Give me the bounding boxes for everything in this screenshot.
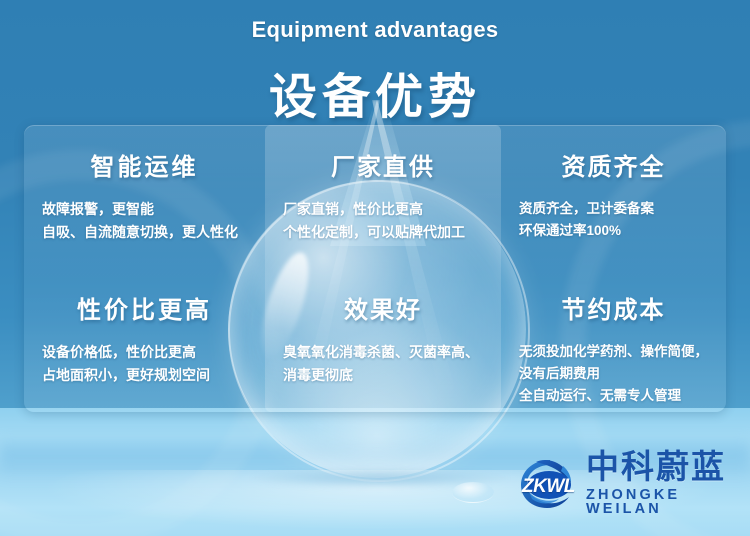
advantage-card-full-qualifications[interactable]: 资质齐全 资质齐全，卫计委备案 环保通过率100% [501, 125, 726, 268]
advantage-line: 资质齐全，卫计委备案 [519, 198, 708, 220]
advantage-description: 资质齐全，卫计委备案 环保通过率100% [519, 198, 708, 242]
advantage-description: 设备价格低，性价比更高 占地面积小，更好规划空间 [42, 341, 247, 386]
advantage-line: 厂家直销，性价比更高 [283, 198, 483, 221]
advantage-line: 故障报警，更智能 [42, 198, 247, 221]
advantage-title: 资质齐全 [519, 147, 708, 182]
advantage-card-save-cost[interactable]: 节约成本 无须投加化学药剂、操作简便， 没有后期费用 全自动运行、无需专人管理 [501, 268, 726, 412]
advantage-title: 节约成本 [519, 290, 708, 325]
advantage-title: 效果好 [283, 290, 483, 325]
page-title: 设备优势 [0, 57, 750, 127]
header-english-title: Equipment advantages [0, 17, 750, 43]
advantage-line: 个性化定制，可以贴牌代加工 [283, 221, 483, 244]
advantage-card-smart-ops[interactable]: 智能运维 故障报警，更智能 自吸、自流随意切换，更人性化 [24, 125, 265, 268]
advantage-line: 无须投加化学药剂、操作简便， [519, 341, 708, 363]
advantage-title: 厂家直供 [283, 147, 483, 182]
advantage-description: 厂家直销，性价比更高 个性化定制，可以贴牌代加工 [283, 198, 483, 243]
advantage-line: 占地面积小，更好规划空间 [42, 364, 247, 387]
advantage-description: 臭氧氧化消毒杀菌、灭菌率高、 消毒更彻底 [283, 341, 483, 386]
advantages-panel-container: 智能运维 故障报警，更智能 自吸、自流随意切换，更人性化 厂家直供 厂家直销，性… [24, 125, 726, 412]
advantages-grid: 智能运维 故障报警，更智能 自吸、自流随意切换，更人性化 厂家直供 厂家直销，性… [24, 125, 726, 412]
advantage-description: 无须投加化学药剂、操作简便， 没有后期费用 全自动运行、无需专人管理 [519, 341, 708, 407]
advantage-line: 全自动运行、无需专人管理 [519, 385, 708, 407]
advantage-card-good-effect[interactable]: 效果好 臭氧氧化消毒杀菌、灭菌率高、 消毒更彻底 [265, 268, 501, 412]
advantage-line: 自吸、自流随意切换，更人性化 [42, 221, 247, 244]
advantage-line: 设备价格低，性价比更高 [42, 341, 247, 364]
logo-english-name: ZHONGKE WEILAN [586, 488, 736, 517]
advantage-line: 消毒更彻底 [283, 364, 483, 387]
advantage-line: 环保通过率100% [519, 220, 708, 242]
advantage-title: 性价比更高 [42, 290, 247, 325]
advantage-title: 智能运维 [42, 147, 247, 182]
dolphin-wave-icon: ZKWL [516, 452, 582, 514]
advantage-description: 故障报警，更智能 自吸、自流随意切换，更人性化 [42, 198, 247, 243]
advantage-card-better-value[interactable]: 性价比更高 设备价格低，性价比更高 占地面积小，更好规划空间 [24, 268, 265, 412]
logo-wordmark: 中科蔚蓝 ZHONGKE WEILAN [586, 450, 736, 517]
advantage-card-factory-direct[interactable]: 厂家直供 厂家直销，性价比更高 个性化定制，可以贴牌代加工 [265, 125, 501, 268]
logo-mark-text: ZKWL [522, 476, 584, 498]
logo-chinese-name: 中科蔚蓝 [586, 450, 736, 483]
advantage-line: 没有后期费用 [519, 363, 708, 385]
advantage-line: 臭氧氧化消毒杀菌、灭菌率高、 [283, 341, 483, 364]
company-logo[interactable]: ZKWL 中科蔚蓝 ZHONGKE WEILAN [516, 450, 736, 516]
poster-canvas: Equipment advantages 设备优势 智能运维 故障报警，更智能 … [0, 0, 750, 536]
